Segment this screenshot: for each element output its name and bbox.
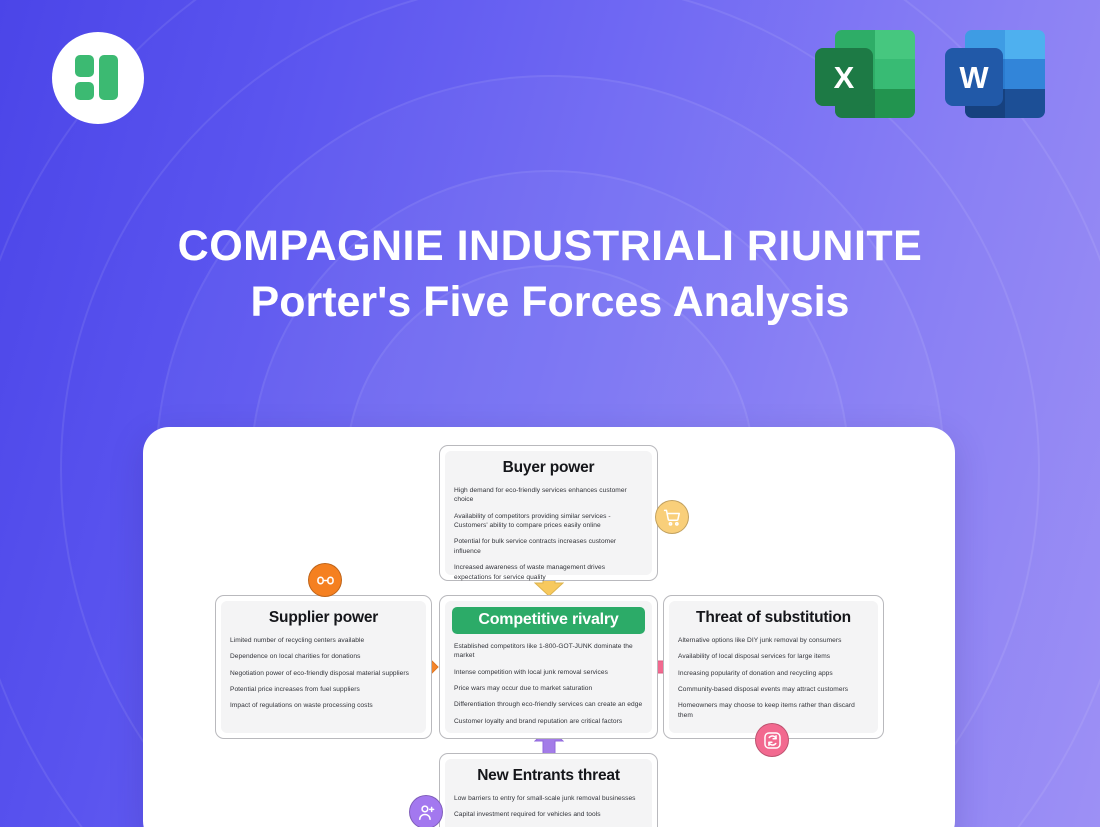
list-item: Capital investment required for vehicles… <box>454 810 643 819</box>
force-points-buyer-power: High demand for eco-friendly services en… <box>454 486 643 582</box>
shopping-cart-icon[interactable] <box>655 500 689 534</box>
list-item: Availability of competitors providing si… <box>454 512 643 531</box>
list-item: High demand for eco-friendly services en… <box>454 486 643 505</box>
list-item: Low barriers to entry for small-scale ju… <box>454 794 643 803</box>
list-item: Customer loyalty and brand reputation ar… <box>454 717 643 726</box>
force-box-threat-of-substitution[interactable]: Threat of substitution Alternative optio… <box>663 595 884 739</box>
excel-icon[interactable]: X <box>815 30 915 118</box>
force-title-threat-of-substitution: Threat of substitution <box>678 609 869 627</box>
force-box-new-entrants-threat[interactable]: New Entrants threat Low barriers to entr… <box>439 753 658 827</box>
list-item: Negotiation power of eco-friendly dispos… <box>230 669 417 678</box>
app-icon-group: X W <box>815 30 1045 118</box>
add-user-icon[interactable] <box>409 795 443 827</box>
force-title-supplier-power: Supplier power <box>230 609 417 627</box>
grid-tiles-logo-icon <box>75 55 121 101</box>
force-points-threat-of-substitution: Alternative options like DIY junk remova… <box>678 636 869 720</box>
list-item: Differentiation through eco-friendly ser… <box>454 700 643 709</box>
list-item: Limited number of recycling centers avai… <box>230 636 417 645</box>
list-item: Potential for bulk service contracts inc… <box>454 537 643 556</box>
list-item: Homeowners may choose to keep items rath… <box>678 701 869 720</box>
list-item: Impact of regulations on waste processin… <box>230 701 417 710</box>
force-title-buyer-power: Buyer power <box>454 459 643 477</box>
list-item: Increased awareness of waste management … <box>454 563 643 582</box>
recycle-sync-icon[interactable] <box>755 723 789 757</box>
list-item: Dependence on local charities for donati… <box>230 652 417 661</box>
word-icon[interactable]: W <box>945 30 1045 118</box>
list-item: Community-based disposal events may attr… <box>678 685 869 694</box>
five-forces-diagram: Buyer power High demand for eco-friendly… <box>143 427 955 827</box>
excel-icon-letter: X <box>815 48 873 106</box>
list-item: Intense competition with local junk remo… <box>454 668 643 677</box>
word-icon-letter: W <box>945 48 1003 106</box>
list-item: Increasing popularity of donation and re… <box>678 669 869 678</box>
brand-logo <box>52 32 144 124</box>
force-points-new-entrants-threat: Low barriers to entry for small-scale ju… <box>454 794 643 827</box>
force-title-competitive-rivalry: Competitive rivalry <box>452 607 645 634</box>
page-subtitle: Porter's Five Forces Analysis <box>0 276 1100 328</box>
list-item: Potential price increases from fuel supp… <box>230 685 417 694</box>
force-title-new-entrants-threat: New Entrants threat <box>454 767 643 785</box>
force-points-competitive-rivalry: Established competitors like 1-800-GOT-J… <box>454 642 643 726</box>
list-item: Availability of local disposal services … <box>678 652 869 661</box>
force-points-supplier-power: Limited number of recycling centers avai… <box>230 636 417 711</box>
title-block: COMPAGNIE INDUSTRIALI RIUNITE Porter's F… <box>0 222 1100 329</box>
force-box-supplier-power[interactable]: Supplier power Limited number of recycli… <box>215 595 432 739</box>
list-item: Alternative options like DIY junk remova… <box>678 636 869 645</box>
chain-link-icon[interactable] <box>308 563 342 597</box>
diagram-card: Buyer power High demand for eco-friendly… <box>143 427 955 827</box>
list-item: Established competitors like 1-800-GOT-J… <box>454 642 643 661</box>
slide-canvas: X W COMPAGNIE INDUSTRIALI RIUNITE Porter… <box>0 0 1100 827</box>
company-title: COMPAGNIE INDUSTRIALI RIUNITE <box>0 222 1100 270</box>
force-box-competitive-rivalry[interactable]: Competitive rivalry Established competit… <box>439 595 658 739</box>
list-item: Price wars may occur due to market satur… <box>454 684 643 693</box>
force-box-buyer-power[interactable]: Buyer power High demand for eco-friendly… <box>439 445 658 581</box>
